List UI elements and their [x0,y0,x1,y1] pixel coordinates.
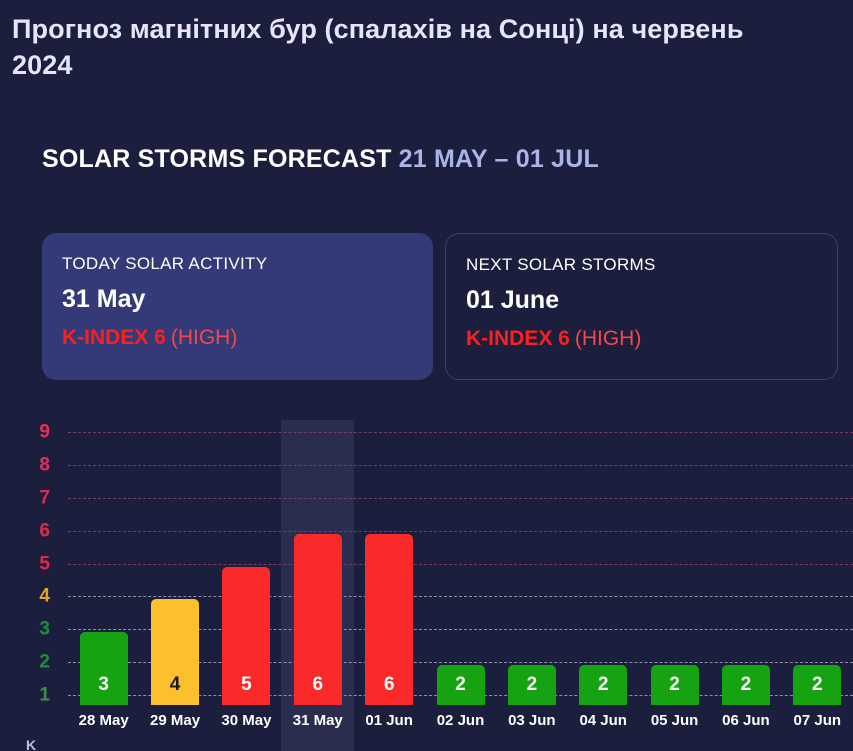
bar-value-label: 2 [598,675,609,705]
bar-value-label: 3 [98,675,109,705]
card-label: NEXT SOLAR STORMS [466,256,817,275]
y-axis-tick-5: 5 [39,554,50,573]
y-axis-tick-6: 6 [39,521,50,540]
bar-02-jun[interactable]: 2 [437,665,485,705]
y-axis-tick-2: 2 [39,653,50,672]
y-axis-tick-4: 4 [39,587,50,606]
x-axis-tick: 28 May [68,712,139,730]
x-axis-tick: 02 Jun [425,712,496,730]
gridline-9 [68,432,853,433]
bar-value-label: 2 [741,675,752,705]
bar-07-jun[interactable]: 2 [793,665,841,705]
y-axis-tick-8: 8 [39,455,50,474]
card-kindex: K-INDEX 6(HIGH) [466,327,817,350]
card-kindex: K-INDEX 6(HIGH) [62,326,413,349]
card-label: TODAY SOLAR ACTIVITY [62,255,413,274]
y-axis-tick-3: 3 [39,620,50,639]
chart-plot-area: 34566222222 [68,410,853,705]
forecast-heading-range: 21 MAY – 01 JUL [399,145,599,173]
bar-value-label: 2 [669,675,680,705]
bar-value-label: 2 [527,675,538,705]
y-axis-tick-7: 7 [39,488,50,507]
x-axis-tick: 06 Jun [710,712,781,730]
bar-value-label: 6 [384,675,395,705]
x-axis-tick: 29 May [139,712,210,730]
bar-01-jun[interactable]: 6 [365,534,413,705]
y-axis-tick-9: 9 [39,423,50,442]
gridline-5 [68,564,853,565]
forecast-heading-lead: SOLAR STORMS FORECAST [42,145,392,173]
bar-value-label: 4 [170,675,181,705]
page-title: Прогноз магнітних бур (спалахів на Сонці… [12,12,802,83]
x-axis-tick: 07 Jun [782,712,853,730]
card-kindex-value: K-INDEX 6 [466,327,570,350]
gridline-7 [68,498,853,499]
y-axis-caption: K [26,738,36,751]
bar-31-may[interactable]: 6 [294,534,342,705]
bar-05-jun[interactable]: 2 [651,665,699,705]
card-date: 31 May [62,286,413,314]
card-date: 01 June [466,287,817,315]
card-kindex-level: (HIGH) [171,326,238,349]
forecast-heading: SOLAR STORMS FORECAST21 MAY – 01 JUL [42,145,599,174]
x-axis-tick: 05 Jun [639,712,710,730]
bar-value-label: 2 [812,675,823,705]
bar-30-may[interactable]: 5 [222,567,270,706]
solar-storm-bar-chart[interactable]: 987654321 34566222222 28 May29 May30 May… [0,410,853,751]
bar-value-label: 6 [312,675,323,705]
chart-x-axis: 28 May29 May30 May31 May01 Jun02 Jun03 J… [68,712,853,742]
bar-value-label: 5 [241,675,252,705]
gridline-4 [68,596,853,597]
chart-y-axis: 987654321 [0,410,68,705]
bar-29-may[interactable]: 4 [151,599,199,705]
bar-06-jun[interactable]: 2 [722,665,770,705]
x-axis-tick: 01 Jun [353,712,424,730]
summary-cards: TODAY SOLAR ACTIVITY 31 May K-INDEX 6(HI… [42,233,838,380]
bar-value-label: 2 [455,675,466,705]
card-kindex-level: (HIGH) [575,327,642,350]
card-next-solar-storms[interactable]: NEXT SOLAR STORMS 01 June K-INDEX 6(HIGH… [445,233,838,380]
card-today-solar-activity[interactable]: TODAY SOLAR ACTIVITY 31 May K-INDEX 6(HI… [42,233,433,380]
x-axis-tick: 04 Jun [568,712,639,730]
x-axis-tick: 30 May [211,712,282,730]
card-kindex-value: K-INDEX 6 [62,326,166,349]
bar-04-jun[interactable]: 2 [579,665,627,705]
gridline-6 [68,531,853,532]
bar-03-jun[interactable]: 2 [508,665,556,705]
gridline-8 [68,465,853,466]
bar-28-may[interactable]: 3 [80,632,128,705]
y-axis-tick-1: 1 [39,686,50,705]
x-axis-tick: 31 May [282,712,353,730]
x-axis-tick: 03 Jun [496,712,567,730]
